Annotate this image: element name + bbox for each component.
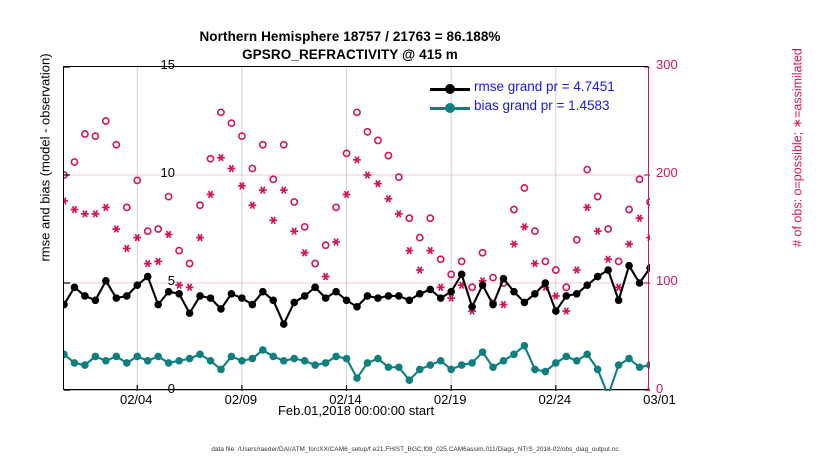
series-point	[165, 360, 172, 367]
obs-possible-marker	[291, 199, 297, 205]
series-point	[469, 360, 476, 367]
series-point	[364, 360, 371, 367]
obs-possible-marker	[595, 194, 601, 200]
series-point	[626, 355, 633, 362]
obs-assimilated-marker	[207, 191, 215, 198]
obs-assimilated-marker	[395, 211, 403, 218]
series-point	[123, 293, 130, 300]
series-point	[218, 366, 225, 373]
obs-possible-marker	[616, 258, 622, 264]
obs-possible-marker	[302, 224, 308, 230]
series-point	[343, 355, 350, 362]
chart-title-line1: Northern Hemisphere 18757 / 21763 = 86.1…	[0, 29, 700, 44]
obs-possible-marker	[490, 275, 496, 281]
obs-possible-marker	[71, 159, 77, 165]
obs-possible-marker	[605, 226, 611, 232]
x-tick-02-04: 02/04	[106, 392, 166, 407]
series-point	[260, 347, 267, 354]
obs-assimilated-marker	[594, 228, 602, 235]
series-point	[511, 351, 518, 358]
series-point	[573, 357, 580, 364]
obs-possible-marker	[176, 248, 182, 254]
obs-possible-marker	[542, 258, 548, 264]
obs-assimilated-marker	[500, 301, 508, 308]
obs-assimilated-marker	[437, 284, 445, 291]
obs-assimilated-marker	[374, 180, 382, 187]
obs-assimilated-marker	[154, 258, 162, 265]
series-point	[573, 291, 580, 298]
obs-assimilated-marker	[322, 273, 330, 280]
series-point	[260, 288, 267, 295]
series-point	[280, 357, 287, 364]
obs-possible-marker	[532, 228, 538, 234]
series-point	[521, 342, 528, 349]
y-tick-left-10: 10	[135, 165, 175, 180]
series-point	[542, 368, 549, 375]
obs-possible-marker	[323, 242, 329, 248]
series-point	[218, 306, 225, 313]
series-point	[437, 357, 444, 364]
series-point	[71, 360, 78, 367]
series-point	[647, 362, 650, 369]
series-point	[396, 364, 403, 371]
series-point	[197, 293, 204, 300]
obs-assimilated-marker	[102, 204, 110, 211]
series-point	[458, 362, 465, 369]
obs-possible-marker	[124, 204, 130, 210]
obs-possible-marker	[584, 167, 590, 173]
series-point	[500, 275, 507, 282]
obs-possible-marker	[113, 142, 119, 148]
series-point	[333, 353, 340, 360]
series-point	[155, 353, 162, 360]
series-point	[291, 355, 298, 362]
obs-assimilated-marker	[91, 211, 99, 218]
obs-possible-marker	[406, 215, 412, 221]
obs-possible-marker	[218, 109, 224, 115]
series-point	[82, 293, 89, 300]
obs-assimilated-marker	[521, 223, 529, 230]
series-point	[594, 273, 601, 280]
series-point	[207, 357, 214, 364]
series-point	[82, 362, 89, 369]
obs-assimilated-marker	[573, 267, 581, 274]
obs-possible-marker	[563, 284, 569, 290]
obs-possible-marker	[103, 118, 109, 124]
obs-assimilated-marker	[269, 217, 277, 224]
series-point	[322, 360, 329, 367]
series-point	[103, 278, 110, 285]
series-point	[437, 295, 444, 302]
x-tick-02-09: 02/09	[211, 392, 271, 407]
y-tick-right-200: 200	[656, 165, 702, 180]
obs-assimilated-marker	[604, 256, 612, 263]
x-tick-02-24: 02/24	[525, 392, 585, 407]
series-point	[103, 357, 110, 364]
series-point	[427, 286, 434, 293]
obs-assimilated-marker	[531, 260, 539, 267]
series-point	[385, 293, 392, 300]
obs-assimilated-marker	[165, 231, 173, 238]
obs-possible-marker	[574, 237, 580, 243]
plot-figure: Northern Hemisphere 18757 / 21763 = 86.1…	[0, 0, 830, 470]
obs-assimilated-marker	[259, 187, 267, 194]
y-tick-right-300: 300	[656, 57, 702, 72]
series-point	[144, 357, 151, 364]
legend: rmse grand pr = 4.7451bias grand pr = 1.…	[430, 80, 644, 120]
series-point	[605, 267, 612, 274]
series-point	[207, 295, 214, 302]
obs-possible-marker	[459, 258, 465, 264]
obs-possible-marker	[354, 109, 360, 115]
series-point	[113, 295, 120, 302]
obs-assimilated-marker	[416, 267, 424, 274]
series-point	[490, 364, 497, 371]
obs-possible-marker	[511, 206, 517, 212]
obs-possible-marker	[375, 137, 381, 143]
obs-possible-marker	[281, 142, 287, 148]
series-possible	[64, 109, 650, 290]
obs-possible-marker	[82, 131, 88, 137]
series-point	[479, 282, 486, 289]
series-point	[165, 288, 172, 295]
series-point	[64, 301, 67, 308]
series-point	[197, 351, 204, 358]
obs-possible-marker	[636, 176, 642, 182]
series-point	[249, 355, 256, 362]
series-point	[301, 293, 308, 300]
y-tick-left-5: 5	[135, 273, 175, 288]
obs-possible-marker	[270, 176, 276, 182]
obs-assimilated-marker	[636, 215, 644, 222]
obs-possible-marker	[333, 204, 339, 210]
obs-possible-marker	[469, 284, 475, 290]
obs-assimilated-marker	[364, 172, 372, 179]
series-point	[123, 360, 130, 367]
obs-possible-marker	[166, 194, 172, 200]
series-point	[406, 297, 413, 304]
obs-possible-marker	[145, 228, 151, 234]
obs-assimilated-marker	[562, 308, 570, 315]
series-point	[636, 280, 643, 287]
x-tick-02-14: 02/14	[316, 392, 376, 407]
legend-marker-bias	[445, 103, 455, 113]
series-point	[416, 366, 423, 373]
series-point	[92, 353, 99, 360]
series-point	[416, 291, 423, 298]
series-point	[186, 355, 193, 362]
y-tick-left-15: 15	[135, 57, 175, 72]
obs-assimilated-marker	[123, 245, 131, 252]
y-axis-left-label: rmse and bias (model - observation)	[38, 8, 53, 308]
series-point	[615, 297, 622, 304]
series-point	[521, 299, 528, 306]
series-point	[532, 291, 539, 298]
series-point	[563, 293, 570, 300]
series-point	[155, 301, 162, 308]
series-point	[406, 377, 413, 384]
obs-assimilated-marker	[144, 260, 152, 267]
series-point	[312, 284, 319, 291]
series-point	[553, 360, 560, 367]
series-point	[511, 288, 518, 295]
series-point	[186, 310, 193, 317]
series-point	[385, 364, 392, 371]
series-point	[291, 299, 298, 306]
series-point	[584, 282, 591, 289]
obs-assimilated-marker	[64, 198, 68, 205]
obs-possible-marker	[197, 202, 203, 208]
obs-assimilated-marker	[353, 157, 361, 164]
x-tick-03-01: 03/01	[629, 392, 689, 407]
series-point	[64, 351, 67, 358]
series-point	[636, 364, 643, 371]
series-point	[553, 308, 560, 315]
series-point	[448, 288, 455, 295]
series-point	[375, 355, 382, 362]
series-point	[542, 280, 549, 287]
x-tick-02-19: 02/19	[420, 392, 480, 407]
series-point	[343, 297, 350, 304]
legend-marker-rmse	[445, 84, 455, 94]
series-point	[647, 265, 650, 272]
y-tick-right-100: 100	[656, 273, 702, 288]
obs-assimilated-marker	[405, 247, 413, 254]
series-point	[92, 297, 99, 304]
obs-assimilated-marker	[186, 284, 194, 291]
obs-assimilated-marker	[280, 187, 288, 194]
obs-assimilated-marker	[625, 241, 633, 248]
obs-assimilated-marker	[196, 234, 204, 241]
obs-assimilated-marker	[228, 165, 236, 172]
obs-possible-marker	[312, 260, 318, 266]
series-point	[176, 357, 183, 364]
obs-possible-marker	[228, 120, 234, 126]
series-point	[333, 288, 340, 295]
obs-possible-marker	[207, 156, 213, 162]
series-point	[322, 295, 329, 302]
series-point	[312, 362, 319, 369]
series-point	[354, 375, 361, 382]
series-point	[448, 366, 455, 373]
y-axis-right-label: # of obs: o=possible; ∗=assimilated	[790, 0, 805, 303]
series-point	[615, 362, 622, 369]
obs-possible-marker	[155, 226, 161, 232]
obs-possible-marker	[417, 235, 423, 241]
obs-assimilated-marker	[646, 234, 650, 241]
obs-assimilated-marker	[71, 206, 79, 213]
obs-possible-marker	[626, 206, 632, 212]
series-point	[458, 271, 465, 278]
obs-assimilated-marker	[510, 241, 518, 248]
series-point	[563, 353, 570, 360]
obs-assimilated-marker	[217, 154, 225, 161]
series-point	[301, 357, 308, 364]
series-point	[113, 353, 120, 360]
series-point	[249, 301, 256, 308]
series-point	[228, 353, 235, 360]
series-point	[228, 291, 235, 298]
obs-possible-marker	[438, 256, 444, 262]
obs-assimilated-marker	[81, 211, 89, 218]
series-point	[270, 297, 277, 304]
series-point	[354, 303, 361, 310]
series-point	[500, 357, 507, 364]
obs-assimilated-marker	[248, 202, 256, 209]
obs-possible-marker	[92, 133, 98, 139]
obs-possible-marker	[385, 152, 391, 158]
series-point	[626, 262, 633, 269]
series-point	[364, 293, 371, 300]
series-point	[71, 284, 78, 291]
obs-possible-marker	[479, 250, 485, 256]
obs-assimilated-marker	[301, 249, 309, 256]
obs-assimilated-marker	[426, 247, 434, 254]
obs-possible-marker	[427, 215, 433, 221]
series-point	[239, 295, 246, 302]
legend-item-bias[interactable]: bias grand pr = 1.4583	[430, 99, 644, 118]
obs-possible-marker	[249, 165, 255, 171]
series-point	[584, 351, 591, 358]
legend-item-rmse[interactable]: rmse grand pr = 4.7451	[430, 80, 644, 99]
series-point	[280, 321, 287, 328]
obs-possible-marker	[521, 185, 527, 191]
series-point	[490, 301, 497, 308]
obs-assimilated-marker	[290, 228, 298, 235]
obs-possible-marker	[647, 199, 650, 205]
legend-label-bias: bias grand pr = 1.4583	[474, 98, 609, 113]
series-point	[134, 353, 141, 360]
series-point	[532, 366, 539, 373]
legend-label-rmse: rmse grand pr = 4.7451	[474, 79, 615, 94]
series-point	[427, 362, 434, 369]
obs-assimilated-marker	[332, 239, 340, 246]
series-point	[239, 357, 246, 364]
obs-assimilated-marker	[583, 204, 591, 211]
chart-title-line2: GPSRO_REFRACTIVITY @ 415 m	[0, 47, 700, 62]
series-point	[375, 295, 382, 302]
obs-possible-marker	[186, 260, 192, 266]
footer-datafile-path: data file: /Users/raeder/DAI/ATM_forcXX/…	[0, 446, 830, 453]
obs-possible-marker	[260, 142, 266, 148]
series-point	[270, 353, 277, 360]
series-point	[176, 291, 183, 298]
series-point	[479, 349, 486, 356]
obs-assimilated-marker	[112, 226, 120, 233]
obs-assimilated-marker	[384, 195, 392, 202]
series-point	[396, 293, 403, 300]
series-point	[594, 366, 601, 373]
obs-possible-marker	[364, 129, 370, 135]
series-point	[469, 303, 476, 310]
